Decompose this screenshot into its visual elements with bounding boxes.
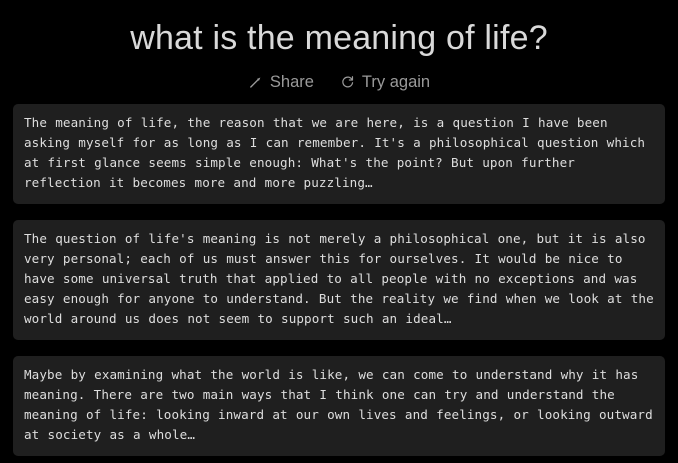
share-arrow-icon xyxy=(248,75,263,90)
completion-text: The meaning of life, the reason that we … xyxy=(24,113,654,193)
completion-card[interactable]: The question of life's meaning is not me… xyxy=(13,220,665,340)
share-button[interactable]: Share xyxy=(248,72,314,92)
completion-text: The question of life's meaning is not me… xyxy=(24,229,654,329)
refresh-circle-icon xyxy=(340,75,355,90)
share-button-label: Share xyxy=(270,72,314,92)
completion-card[interactable]: The meaning of life, the reason that we … xyxy=(13,104,665,204)
completion-text: Maybe by examining what the world is lik… xyxy=(24,365,654,445)
try-again-button[interactable]: Try again xyxy=(340,72,430,92)
completion-card[interactable]: Maybe by examining what the world is lik… xyxy=(13,356,665,456)
page-title: what is the meaning of life? xyxy=(0,0,678,58)
action-bar: Share Try again xyxy=(0,70,678,94)
completion-list: The meaning of life, the reason that we … xyxy=(0,104,678,456)
completion-page: what is the meaning of life? Share Try a… xyxy=(0,0,678,463)
try-again-button-label: Try again xyxy=(362,72,430,92)
